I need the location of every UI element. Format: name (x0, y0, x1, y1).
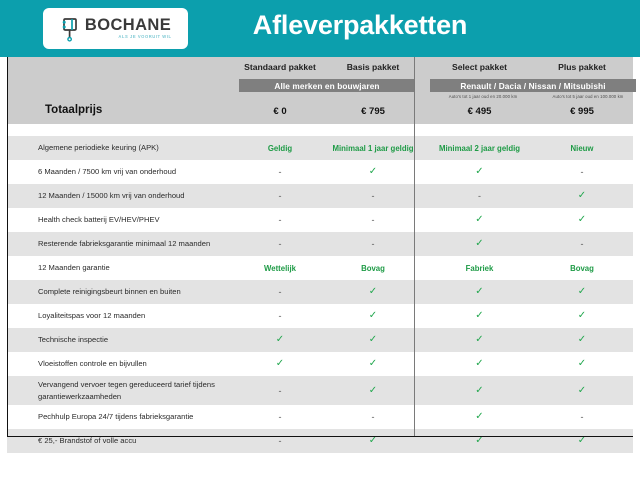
check-icon: ✓ (475, 436, 483, 446)
check-icon: ✓ (475, 386, 483, 396)
table-row: Health check batterij EV/HEV/PHEV--✓✓ (7, 208, 633, 232)
cell-plus: ✓ (532, 328, 632, 352)
check-icon: ✓ (475, 287, 483, 297)
table-row: Technische inspectie✓✓✓✓ (7, 328, 633, 352)
price-plus: € 995 (532, 106, 632, 117)
cell-standaard: - (230, 376, 330, 405)
check-icon: ✓ (475, 335, 483, 345)
cell-plus: Nieuw (532, 136, 632, 160)
check-icon: ✓ (276, 359, 284, 369)
cell-plus: - (532, 160, 632, 184)
cell-standaard: - (230, 232, 330, 256)
cell-select: - (427, 184, 532, 208)
cell-basis: ✓ (323, 304, 423, 328)
cell-basis: - (323, 184, 423, 208)
check-icon: ✓ (475, 311, 483, 321)
table-left-border (7, 57, 8, 437)
afleverpakketten-page: BOCHANE ALS JE VOORUIT WIL Afleverpakket… (0, 0, 640, 453)
check-icon: ✓ (475, 239, 483, 249)
cell-basis: ✓ (323, 160, 423, 184)
table-row: Algemene periodieke keuring (APK)GeldigM… (7, 136, 633, 160)
feature-label: 12 Maanden garantie (38, 256, 110, 280)
check-icon: ✓ (369, 287, 377, 297)
check-icon: ✓ (578, 359, 586, 369)
cell-basis: ✓ (323, 429, 423, 453)
feature-label: € 25,- Brandstof of volle accu (38, 429, 136, 453)
check-icon: ✓ (578, 436, 586, 446)
column-header-standaard: Standaard pakket (230, 62, 330, 72)
cell-basis: ✓ (323, 352, 423, 376)
check-icon: ✓ (369, 311, 377, 321)
cell-select: ✓ (427, 160, 532, 184)
table-header: Standaard pakket Basis pakket Select pak… (7, 57, 633, 124)
feature-label: Loyaliteitspas voor 12 maanden (38, 304, 145, 328)
cell-select: ✓ (427, 304, 532, 328)
cell-standaard: Geldig (230, 136, 330, 160)
check-icon: ✓ (369, 167, 377, 177)
check-icon: ✓ (578, 311, 586, 321)
total-price-row: Totaalprijs € 0 € 795 € 495 € 995 (7, 102, 633, 124)
cell-basis: Minimaal 1 jaar geldig (323, 136, 423, 160)
check-icon: ✓ (475, 167, 483, 177)
check-icon: ✓ (578, 215, 586, 225)
table-row: Complete reinigingsbeurt binnen en buite… (7, 280, 633, 304)
check-icon: ✓ (475, 215, 483, 225)
column-group-divider (414, 57, 415, 437)
check-icon: ✓ (578, 287, 586, 297)
check-icon: ✓ (369, 386, 377, 396)
cell-select: ✓ (427, 280, 532, 304)
cell-select: ✓ (427, 328, 532, 352)
total-price-label: Totaalprijs (45, 104, 102, 116)
page-title: Afleverpakketten (0, 10, 640, 41)
feature-label: Vloeistoffen controle en bijvullen (38, 352, 147, 376)
table-row: Resterende fabrieksgarantie minimaal 12 … (7, 232, 633, 256)
cell-select: ✓ (427, 208, 532, 232)
header-body-gap (7, 124, 633, 136)
cell-basis: ✓ (323, 376, 423, 405)
check-icon: ✓ (578, 191, 586, 201)
feature-label: Algemene periodieke keuring (APK) (38, 136, 159, 160)
cell-plus: ✓ (532, 429, 632, 453)
feature-label: Technische inspectie (38, 328, 108, 352)
feature-rows: Algemene periodieke keuring (APK)GeldigM… (7, 136, 633, 453)
cell-basis: - (323, 208, 423, 232)
cell-plus: ✓ (532, 304, 632, 328)
column-label-strip: Standaard pakket Basis pakket Select pak… (7, 62, 633, 76)
table-row: 12 Maanden / 15000 km vrij van onderhoud… (7, 184, 633, 208)
price-select: € 495 (427, 106, 532, 117)
cell-select: ✓ (427, 232, 532, 256)
cell-standaard: - (230, 304, 330, 328)
check-icon: ✓ (475, 359, 483, 369)
column-header-plus: Plus pakket (532, 62, 632, 72)
group-tag-alle-merken: Alle merken en bouwjaren (239, 79, 415, 92)
table-row: Vloeistoffen controle en bijvullen✓✓✓✓ (7, 352, 633, 376)
cell-plus: ✓ (532, 184, 632, 208)
check-icon: ✓ (369, 436, 377, 446)
table-row: Loyaliteitspas voor 12 maanden-✓✓✓ (7, 304, 633, 328)
cell-basis: ✓ (323, 328, 423, 352)
cell-plus: ✓ (532, 376, 632, 405)
cell-select: ✓ (427, 376, 532, 405)
cell-basis: - (323, 405, 423, 429)
check-icon: ✓ (369, 335, 377, 345)
cell-plus: Bovag (532, 256, 632, 280)
column-header-basis: Basis pakket (323, 62, 423, 72)
cell-basis: ✓ (323, 280, 423, 304)
cell-plus: - (532, 405, 632, 429)
cell-standaard: - (230, 184, 330, 208)
feature-label: 6 Maanden / 7500 km vrij van onderhoud (38, 160, 176, 184)
cell-select: Fabriek (427, 256, 532, 280)
cell-standaard: - (230, 208, 330, 232)
table-row: 6 Maanden / 7500 km vrij van onderhoud-✓… (7, 160, 633, 184)
feature-label: 12 Maanden / 15000 km vrij van onderhoud (38, 184, 185, 208)
packages-comparison-table: Standaard pakket Basis pakket Select pak… (0, 57, 640, 453)
cell-standaard: - (230, 160, 330, 184)
cell-select: ✓ (427, 405, 532, 429)
cell-standaard: - (230, 405, 330, 429)
check-icon: ✓ (369, 359, 377, 369)
cell-basis: - (323, 232, 423, 256)
table-row: € 25,- Brandstof of volle accu-✓✓✓ (7, 429, 633, 453)
cell-basis: Bovag (323, 256, 423, 280)
header-banner: BOCHANE ALS JE VOORUIT WIL Afleverpakket… (0, 0, 640, 57)
cell-select: ✓ (427, 352, 532, 376)
cell-select: ✓ (427, 429, 532, 453)
table-row: 12 Maanden garantieWettelijkBovagFabriek… (7, 256, 633, 280)
table-row: Pechhulp Europa 24/7 tijdens fabrieksgar… (7, 405, 633, 429)
check-icon: ✓ (578, 335, 586, 345)
table-bottom-border (7, 436, 633, 437)
cell-plus: - (532, 232, 632, 256)
group-tag-merken-select-plus: Renault / Dacia / Nissan / Mitsubishi (430, 79, 636, 92)
cell-plus: ✓ (532, 352, 632, 376)
group-subnote-plus: Auto's tot 5 jaar oud en 100.000 km (527, 95, 640, 100)
feature-label: Resterende fabrieksgarantie minimaal 12 … (38, 232, 210, 256)
feature-label: Complete reinigingsbeurt binnen en buite… (38, 280, 181, 304)
cell-standaard: ✓ (230, 352, 330, 376)
cell-plus: ✓ (532, 208, 632, 232)
feature-label: Pechhulp Europa 24/7 tijdens fabrieksgar… (38, 405, 193, 429)
price-standaard: € 0 (230, 106, 330, 117)
table-row: Vervangend vervoer tegen gereduceerd tar… (7, 376, 633, 405)
cell-select: Minimaal 2 jaar geldig (427, 136, 532, 160)
price-basis: € 795 (323, 106, 423, 117)
cell-standaard: - (230, 429, 330, 453)
cell-standaard: - (230, 280, 330, 304)
check-icon: ✓ (475, 412, 483, 422)
feature-label: Vervangend vervoer tegen gereduceerd tar… (38, 376, 223, 405)
check-icon: ✓ (578, 386, 586, 396)
cell-standaard: Wettelijk (230, 256, 330, 280)
cell-plus: ✓ (532, 280, 632, 304)
check-icon: ✓ (276, 335, 284, 345)
feature-label: Health check batterij EV/HEV/PHEV (38, 208, 160, 232)
column-header-select: Select pakket (427, 62, 532, 72)
table-footer-blank (7, 472, 633, 493)
cell-standaard: ✓ (230, 328, 330, 352)
